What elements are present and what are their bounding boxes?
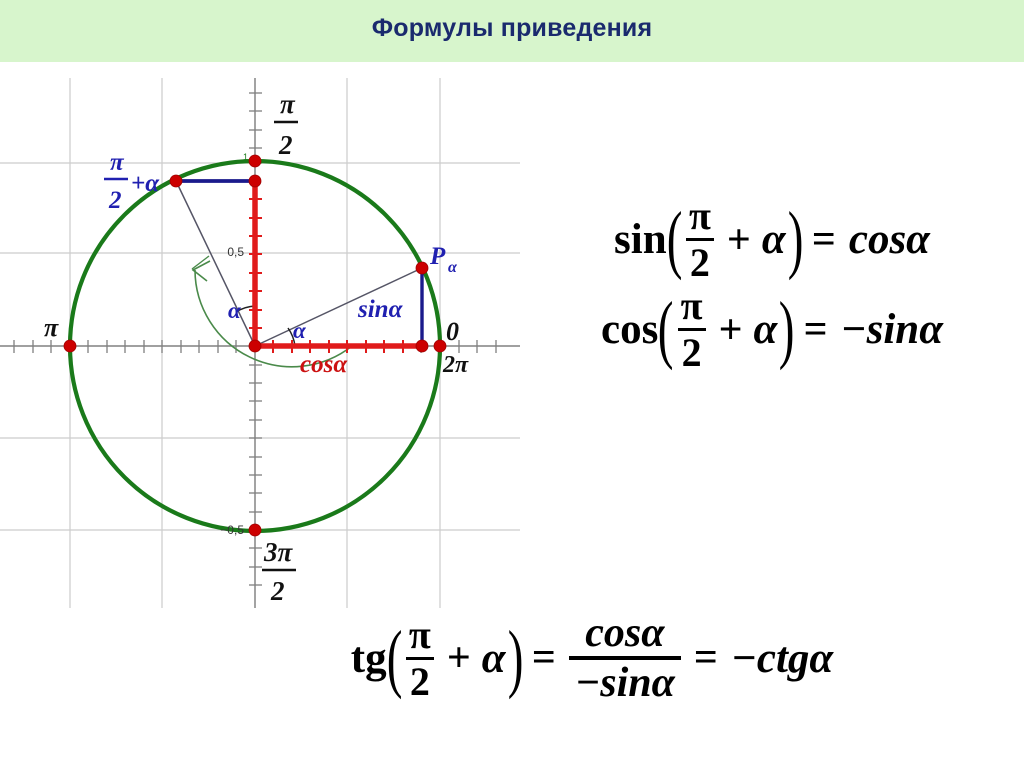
formula-cos-paren-close: ) (779, 302, 795, 357)
formula-tg: tg ( π 2 + α ) = cosα −sinα = −ctgα (160, 612, 1024, 704)
formula-tg-arg-fraction: π 2 (406, 615, 434, 702)
formula-tg-plus: + (447, 634, 471, 682)
formula-sin-plus: + (727, 216, 751, 264)
formula-tg-arg-num: π (406, 615, 434, 655)
formula-cos-paren-open: ( (658, 302, 674, 357)
formula-tg-frac-num: cosα (579, 612, 670, 654)
point-three-half-pi (249, 524, 261, 536)
point-pi (64, 340, 76, 352)
unit-circle-diagram: 0,5 −0,5 1 π 2 π 0 2π 3π 2 π 2 +α P α si… (0, 78, 520, 608)
formula-sin-den: 2 (687, 243, 713, 283)
half-pi-den: 2 (278, 130, 293, 160)
label-angle-alpha-upper: α (228, 298, 242, 323)
formula-tg-arg-den: 2 (407, 662, 433, 702)
tick-label-one: 1 (243, 152, 248, 162)
formula-cos-plus: + (719, 306, 743, 354)
formula-tg-paren-open: ( (386, 631, 402, 686)
formula-sin-op: sin (614, 215, 667, 264)
formula-sin-paren-open: ( (666, 212, 682, 267)
ray-to-rotated-point (176, 181, 255, 346)
point-rotated (170, 175, 182, 187)
p-alpha-base: P (429, 243, 446, 270)
tick-label-pos-half: 0,5 (227, 245, 244, 259)
formula-sin-paren-close: ) (787, 212, 803, 267)
label-p-alpha: P α (429, 243, 458, 276)
label-rotated-point: π 2 +α (104, 149, 160, 214)
label-half-pi: π 2 (274, 89, 298, 160)
point-cos-foot (416, 340, 428, 352)
formula-cos-fraction: π 2 (678, 286, 706, 373)
label-pi: π (44, 313, 59, 342)
formula-sin: sin ( π 2 + α ) = cosα (520, 196, 1024, 283)
formula-cos-equals: = (804, 306, 828, 354)
formula-cos-var: α (754, 305, 778, 354)
tick-label-neg-half: −0,5 (220, 523, 244, 537)
label-three-half-pi: 3π 2 (262, 537, 296, 606)
point-two-pi (434, 340, 446, 352)
p-alpha-sub: α (448, 259, 458, 276)
formula-cos-op: cos (601, 305, 658, 354)
formula-tg-result-fraction: cosα −sinα (569, 612, 681, 704)
formula-cos-den: 2 (679, 333, 705, 373)
label-sin-alpha: sinα (357, 296, 404, 323)
half-pi-num: π (280, 89, 296, 119)
label-cos-alpha: cosα (300, 351, 348, 378)
point-half-pi (249, 155, 261, 167)
formula-sin-result: cosα (849, 215, 930, 264)
three-half-pi-num: 3π (263, 537, 294, 567)
formula-sin-fraction: π 2 (686, 196, 714, 283)
formula-tg-paren-close: ) (507, 631, 523, 686)
three-half-pi-den: 2 (270, 576, 285, 606)
label-two-pi: 2π (442, 352, 469, 378)
rotated-frac-num: π (110, 149, 125, 176)
page-title: Формулы приведения (0, 14, 1024, 43)
point-vertical-top (249, 175, 261, 187)
point-origin (249, 340, 261, 352)
formula-cos: cos ( π 2 + α ) = −sinα (520, 286, 1024, 373)
point-p-alpha (416, 262, 428, 274)
formula-tg-op: tg (351, 634, 387, 683)
label-angle-alpha-lower: α (293, 318, 307, 343)
formula-cos-num: π (678, 286, 706, 326)
formula-sin-equals: = (812, 216, 836, 264)
label-zero: 0 (446, 317, 459, 346)
rotated-suffix: +α (131, 170, 160, 197)
title-banner: Формулы приведения (0, 0, 1024, 62)
formula-tg-equals-1: = (532, 634, 556, 682)
rotated-frac-den: 2 (108, 187, 122, 214)
formula-tg-result: −ctgα (731, 634, 833, 683)
formula-sin-num: π (686, 196, 714, 236)
formula-sin-var: α (762, 215, 786, 264)
formula-tg-equals-2: = (694, 634, 718, 682)
formula-tg-frac-den: −sinα (569, 662, 681, 704)
formula-tg-var: α (482, 634, 506, 683)
formula-cos-result: −sinα (841, 305, 943, 354)
